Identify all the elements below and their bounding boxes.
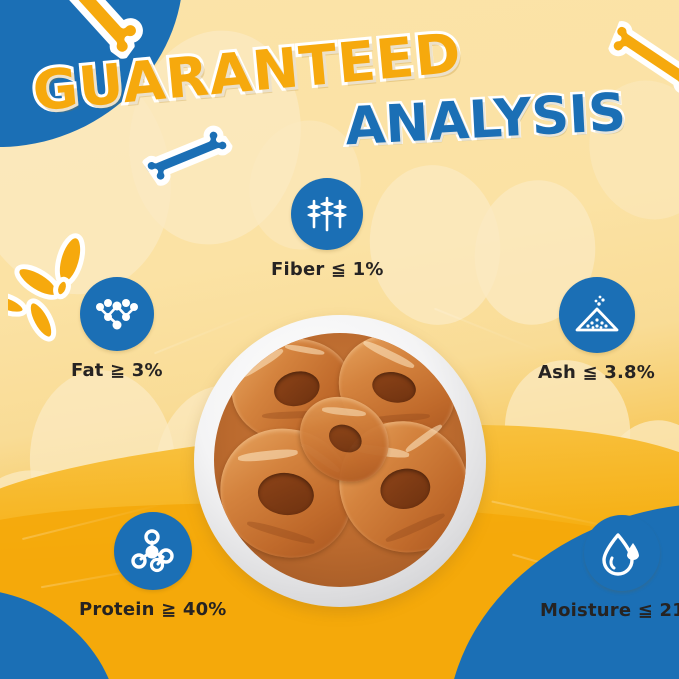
nutrient-label-moisture: Moisture ≦ 21% xyxy=(540,600,679,621)
nutrient-label-ash: Ash ≦ 3.8% xyxy=(538,362,655,383)
ash-mound-icon xyxy=(559,277,635,353)
poster-heading: GUARANTEED ANALYSIS xyxy=(0,0,679,175)
nutrient-fat: Fat ≧ 3% xyxy=(71,277,163,381)
fat-molecule-icon xyxy=(80,277,154,351)
protein-molecule-icon xyxy=(114,512,192,590)
nutrient-label-fat: Fat ≧ 3% xyxy=(71,360,163,381)
nutrient-moisture: Moisture ≦ 21% xyxy=(540,515,679,621)
nutrient-label-fiber: Fiber ≦ 1% xyxy=(271,259,384,280)
wheat-stalks-icon xyxy=(291,178,363,250)
product-photo-bowl-of-treats xyxy=(194,315,486,607)
title-analysis: ANALYSIS xyxy=(344,83,628,158)
water-droplet-icon xyxy=(584,515,660,591)
nutrient-ash: Ash ≦ 3.8% xyxy=(538,277,655,383)
nutrient-fiber: Fiber ≦ 1% xyxy=(271,178,384,280)
guaranteed-analysis-poster: GUARANTEED ANALYSIS xyxy=(0,0,679,679)
nutrient-label-protein: Protein ≧ 40% xyxy=(79,599,227,620)
bowl-contents xyxy=(214,333,466,587)
nutrient-protein: Protein ≧ 40% xyxy=(79,512,227,620)
